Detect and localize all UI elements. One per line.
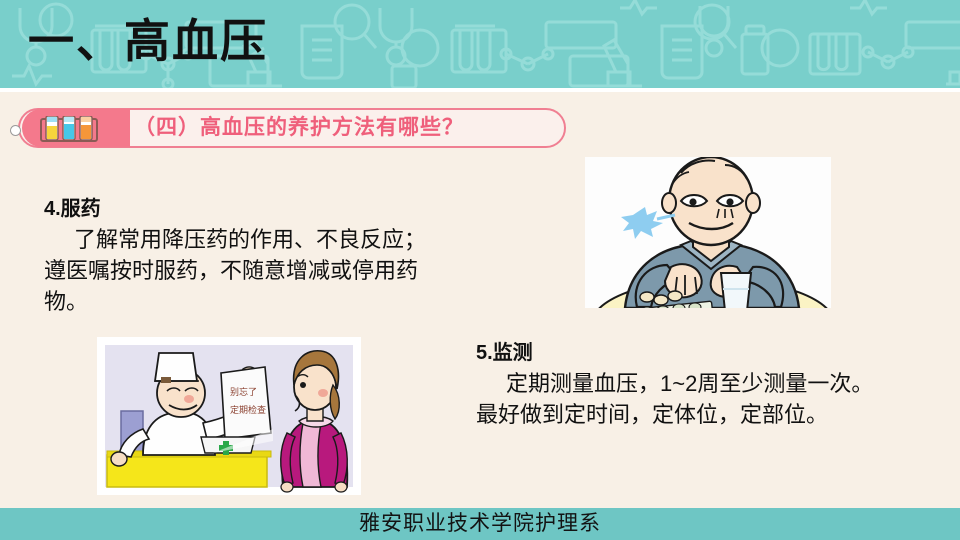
page-title: 一、高血压 — [28, 6, 268, 76]
block-heading-monitoring: 5.监测 — [476, 340, 884, 366]
header-underline — [0, 88, 960, 92]
banner-tag-hole-icon — [10, 125, 21, 136]
doctor-reminder-sign-illustration: 别忘了 定期检查 — [97, 337, 361, 495]
footer-label: 雅安职业技术学院护理系 — [0, 508, 960, 540]
elderly-man-taking-pills-illustration — [585, 157, 831, 308]
slide-header: 一、高血压 — [0, 0, 960, 88]
section-banner-label: （四）高血压的养护方法有哪些？ — [134, 109, 464, 147]
content-block-monitoring: 5.监测 定期测量血压，1~2周至少测量一次。最好做到定时间，定体位，定部位。 — [476, 340, 884, 430]
sign-text-line-2: 定期检查 — [230, 404, 266, 415]
block-heading-medication: 4.服药 — [44, 196, 436, 222]
content-block-medication: 4.服药 了解常用降压药的作用、不良反应；遵医嘱按时服药，不随意增减或停用药物。 — [44, 196, 436, 317]
block-body-monitoring: 定期测量血压，1~2周至少测量一次。最好做到定时间，定体位，定部位。 — [476, 368, 884, 430]
sign-text-line-1: 别忘了 — [230, 386, 257, 397]
test-tube-rack-icon — [40, 116, 98, 142]
slide-root: 一、高血压 （四）高血压的养护方法有哪些？ 4.服药 了解常用降压药的作用、不良… — [0, 0, 960, 540]
block-body-medication: 了解常用降压药的作用、不良反应；遵医嘱按时服药，不随意增减或停用药物。 — [44, 224, 436, 317]
